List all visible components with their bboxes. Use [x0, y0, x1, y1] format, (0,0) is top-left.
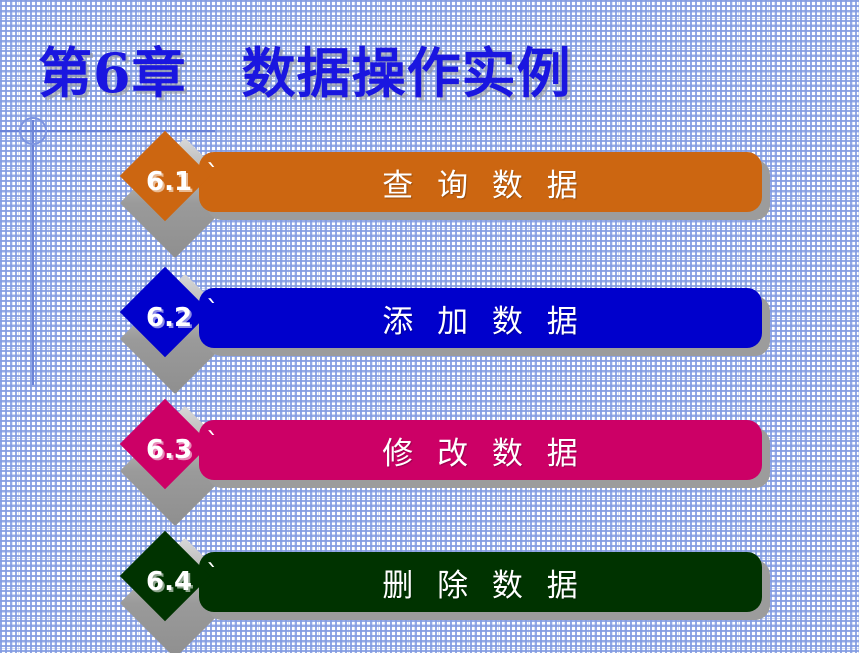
section-label: 修 改 数 据: [376, 428, 585, 473]
page-title: 第6章 数据操作实例: [38, 38, 572, 108]
section-row[interactable]: 查 询 数 据 6.1 `: [0, 140, 859, 244]
section-label: 删 除 数 据: [376, 560, 585, 605]
section-row[interactable]: 添 加 数 据 6.2 `: [0, 276, 859, 380]
section-number: 6.4: [146, 561, 210, 603]
tick-mark: `: [206, 296, 219, 326]
section-number: 6.1: [146, 161, 210, 203]
section-label: 添 加 数 据: [376, 296, 585, 341]
section-bar[interactable]: 查 询 数 据: [199, 152, 762, 212]
section-number: 6.2: [146, 297, 210, 339]
tick-mark: `: [206, 160, 219, 190]
slide-canvas: 第6章 数据操作实例 查 询 数 据 6.1 ` 添 加 数 据 6.2 `: [0, 0, 859, 653]
tick-mark: `: [206, 560, 219, 590]
tick-mark: `: [206, 428, 219, 458]
section-bar[interactable]: 添 加 数 据: [199, 288, 762, 348]
section-bar[interactable]: 修 改 数 据: [199, 420, 762, 480]
section-row[interactable]: 修 改 数 据 6.3 `: [0, 408, 859, 512]
section-bar[interactable]: 删 除 数 据: [199, 552, 762, 612]
section-row[interactable]: 删 除 数 据 6.4 `: [0, 540, 859, 644]
section-number: 6.3: [146, 429, 210, 471]
section-label: 查 询 数 据: [376, 160, 585, 205]
